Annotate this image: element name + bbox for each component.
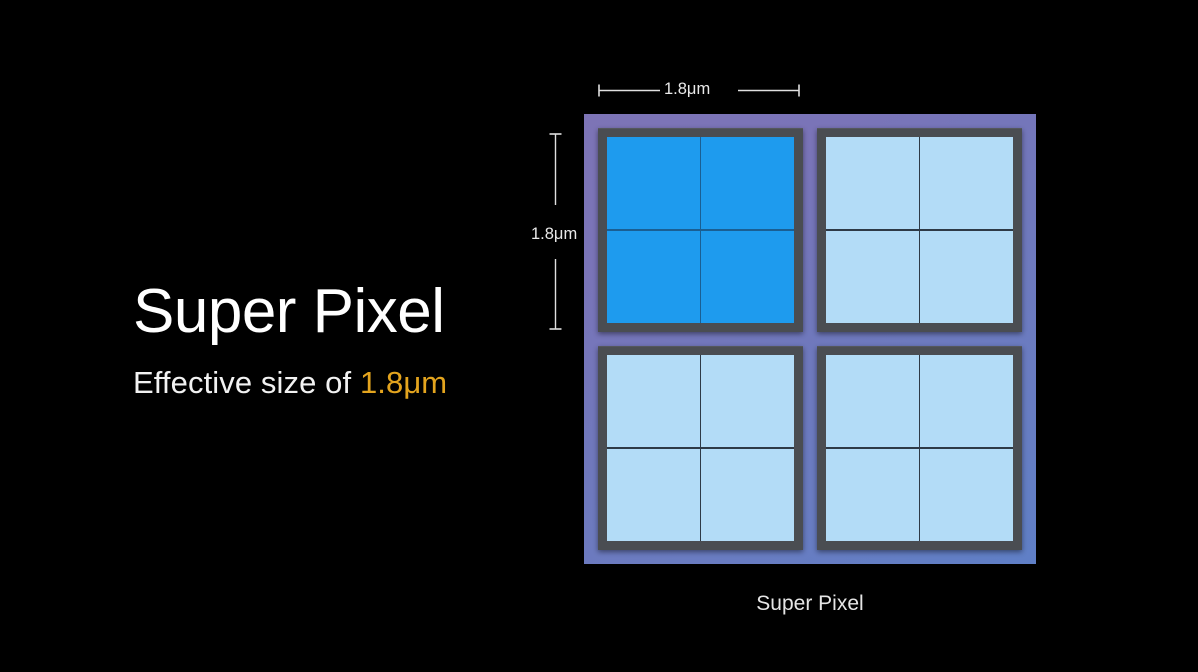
quadrant-grid (607, 355, 794, 541)
pixel-cell (826, 137, 919, 229)
subtitle: Effective size of 1.8μm (133, 365, 447, 401)
pixel-cell (607, 231, 700, 323)
dimension-label-horizontal: 1.8μm (664, 80, 710, 99)
text-block: Super Pixel Effective size of 1.8μm (133, 281, 447, 401)
super-pixel-diagram (584, 114, 1036, 564)
subtitle-prefix: Effective size of (133, 365, 360, 400)
pixel-cell (920, 355, 1013, 447)
quadrant-top-right[interactable] (817, 128, 1022, 332)
pixel-cell (701, 137, 794, 229)
quadrant-top-left[interactable] (598, 128, 803, 332)
quadrant-bottom-right[interactable] (817, 346, 1022, 550)
pixel-cell (701, 449, 794, 541)
quadrant-bottom-left[interactable] (598, 346, 803, 550)
dimension-label-vertical: 1.8μm (531, 225, 577, 244)
pixel-cell (701, 231, 794, 323)
pixel-cell (826, 355, 919, 447)
pixel-cell (607, 449, 700, 541)
subtitle-accent-value: 1.8μm (360, 365, 447, 400)
pixel-frame (584, 114, 1036, 564)
quadrant-grid (826, 355, 1013, 541)
pixel-cell (701, 355, 794, 447)
pixel-cell (920, 449, 1013, 541)
quadrant-grid (607, 137, 794, 323)
diagram-caption: Super Pixel (584, 592, 1036, 616)
page-title: Super Pixel (133, 281, 447, 343)
pixel-cell (826, 231, 919, 323)
slide-canvas: Super Pixel Effective size of 1.8μm (0, 0, 1198, 672)
pixel-cell (920, 231, 1013, 323)
pixel-cell (826, 449, 919, 541)
pixel-cell (920, 137, 1013, 229)
pixel-cell (607, 355, 700, 447)
quadrant-grid (826, 137, 1013, 323)
pixel-cell (607, 137, 700, 229)
